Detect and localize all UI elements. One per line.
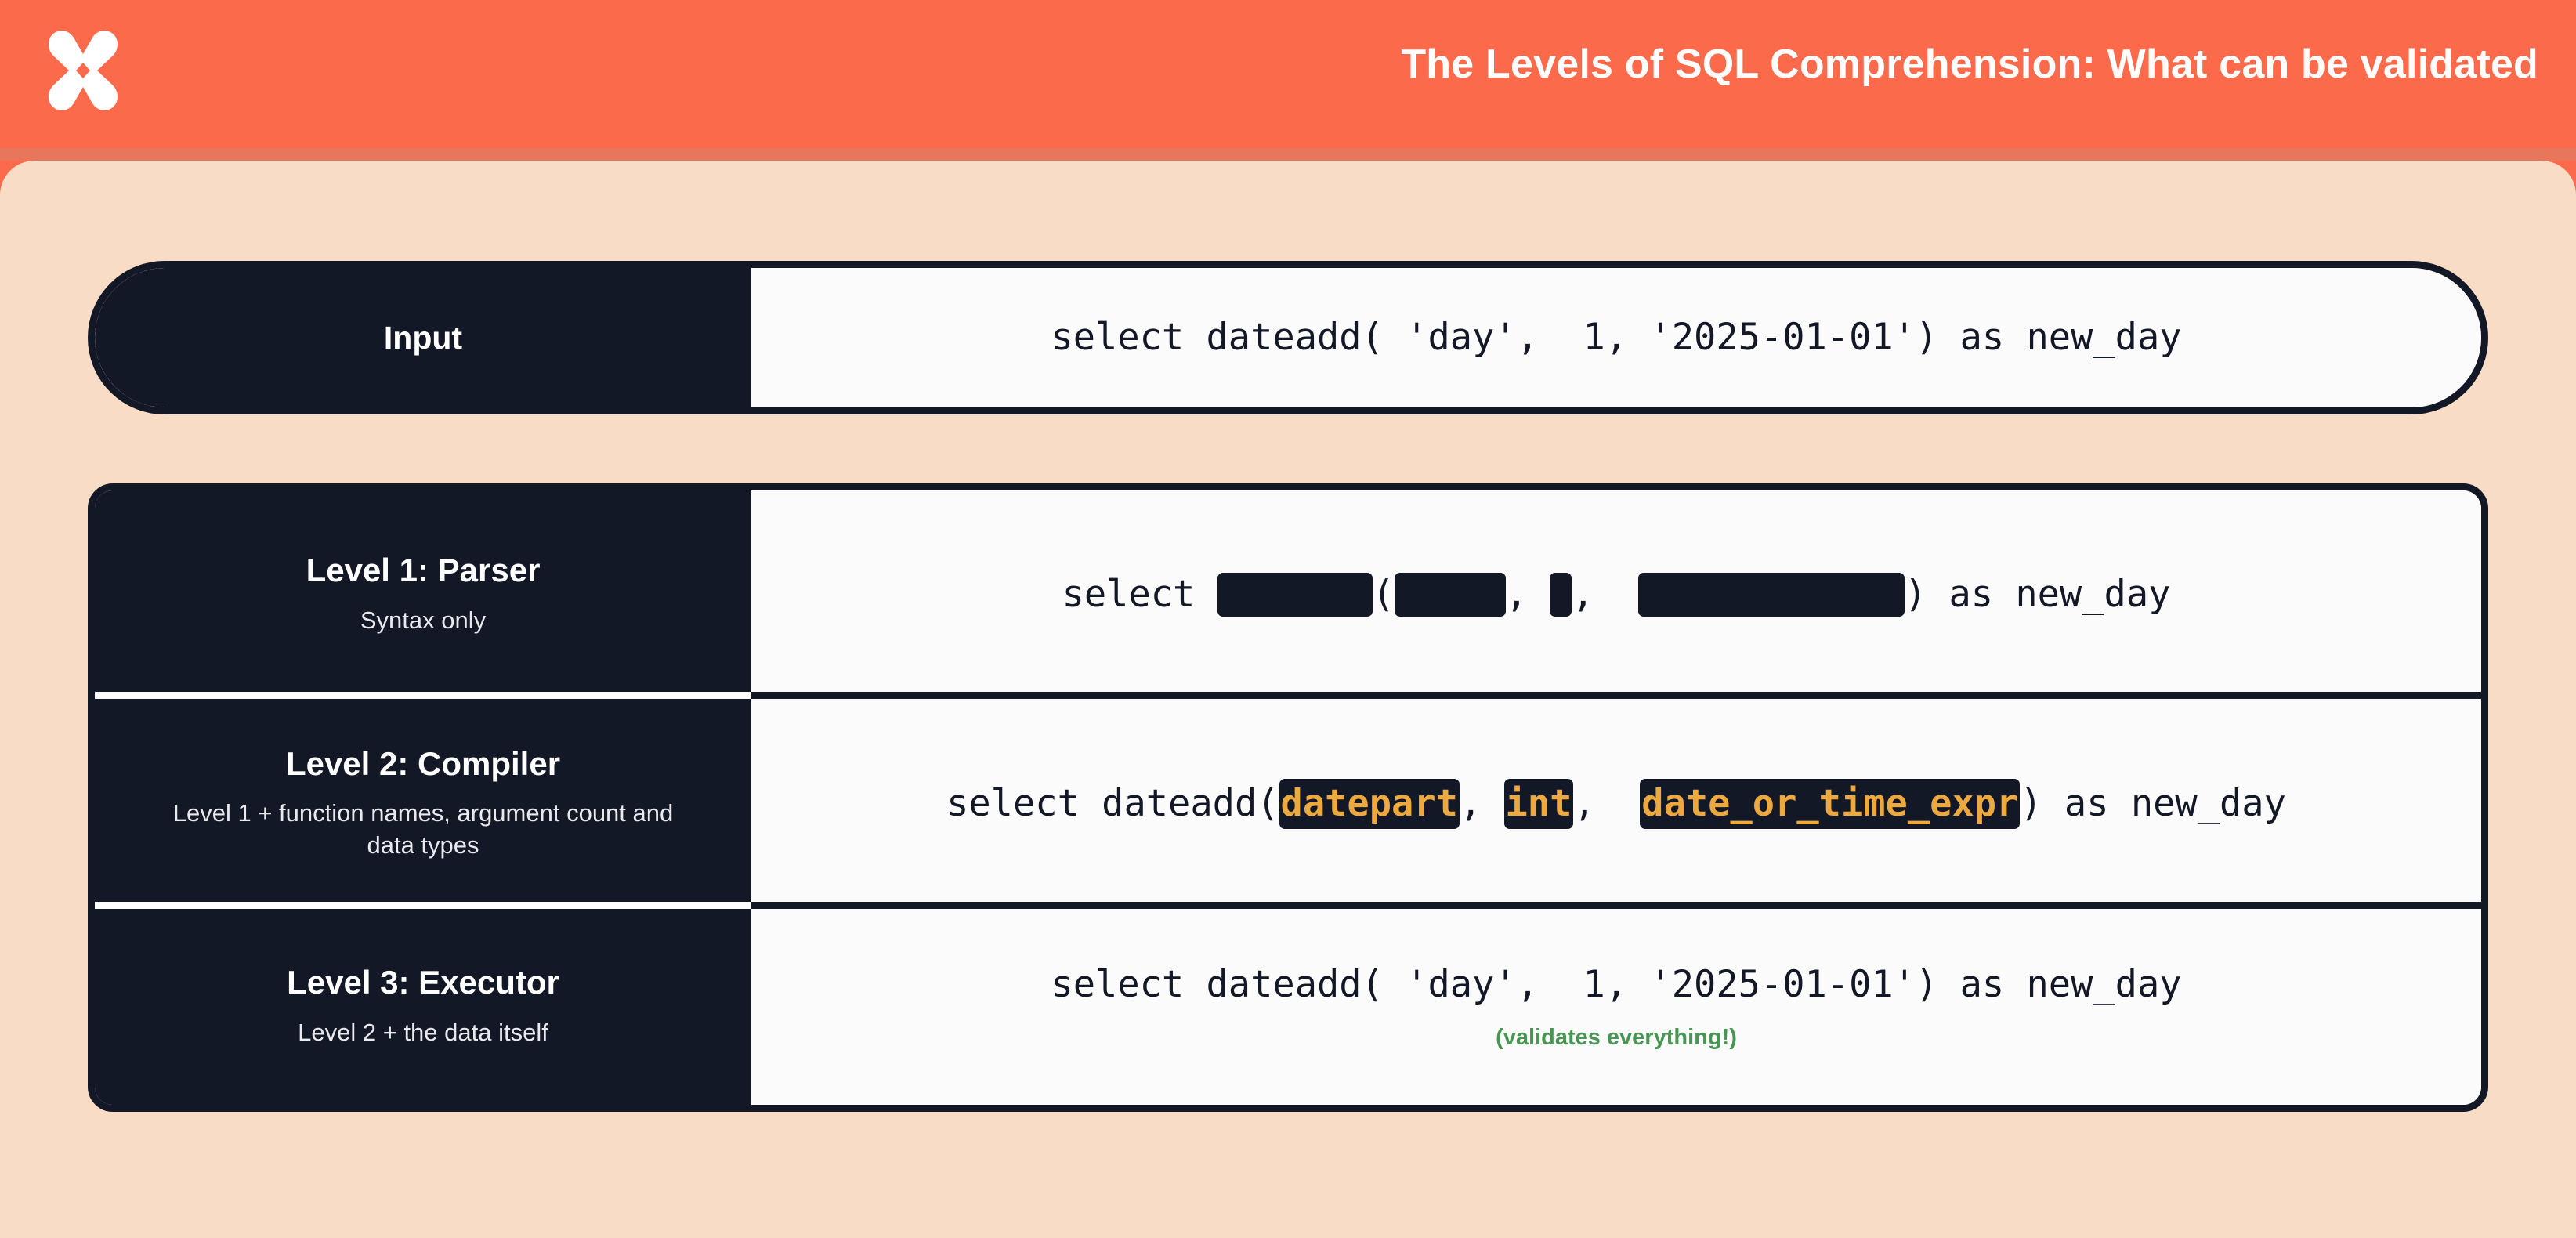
level-1-code-cell: select dateadd('day', 1, '2025-01-01') a… [751,490,2481,699]
x-mark-logo [36,24,130,118]
code-segment: ) as new_day [2020,782,2286,825]
redacted-arg-3: '2025-01-01' [1638,573,1905,617]
type-chip-int: int [1504,779,1574,829]
code-segment: select [1062,573,1217,616]
input-label-cell: Input [95,268,751,407]
type-chip-datepart: datepart [1279,779,1460,829]
header-bar: The Levels of SQL Comprehension: What ca… [0,0,2576,161]
level-3-subtitle: Level 2 + the data itself [298,1017,548,1049]
levels-card: Level 1: Parser Syntax only select datea… [88,483,2488,1112]
level-3-note: (validates everything!) [1496,1025,1737,1051]
code-segment: , [1506,573,1550,616]
level-1-title: Level 1: Parser [306,552,541,588]
code-segment: ) as new_day [1905,573,2171,616]
input-label: Input [384,320,462,357]
row-divider-1 [95,692,2481,699]
row-divider-2 [95,902,2481,909]
level-2-code-cell: select dateadd(datepart, int, date_or_ti… [751,699,2481,909]
input-code-cell: select dateadd( 'day', 1, '2025-01-01') … [751,268,2481,407]
page-title: The Levels of SQL Comprehension: What ca… [1401,41,2538,88]
level-2-title: Level 2: Compiler [286,746,560,782]
input-card: Input select dateadd( 'day', 1, '2025-01… [88,261,2488,414]
code-segment: , [1573,782,1640,825]
level-3-title: Level 3: Executor [287,965,559,1001]
level-2-subtitle: Level 1 + function names, argument count… [149,798,697,862]
level-3-code-cell: select dateadd( 'day', 1, '2025-01-01') … [751,909,2481,1105]
type-chip-date-or-time-expr: date_or_time_expr [1640,779,2020,829]
code-segment: select dateadd( [946,782,1279,825]
code-segment: ( [1373,573,1395,616]
divider-left-segment [95,692,751,699]
divider-right-segment [751,902,2481,909]
level-3-sql-code: select dateadd( 'day', 1, '2025-01-01') … [1051,963,2181,1007]
level-2-label-cell: Level 2: Compiler Level 1 + function nam… [95,699,751,909]
level-1-sql-code: select dateadd('day', 1, '2025-01-01') a… [1062,573,2171,617]
level-1-label-cell: Level 1: Parser Syntax only [95,490,751,699]
input-sql-code: select dateadd( 'day', 1, '2025-01-01') … [1051,316,2181,360]
code-segment: , [1572,573,1638,616]
divider-left-segment [95,902,751,909]
infographic-page: The Levels of SQL Comprehension: What ca… [0,0,2576,1238]
level-row: Level 3: Executor Level 2 + the data its… [95,909,2481,1105]
level-1-subtitle: Syntax only [360,605,486,637]
level-row: Level 1: Parser Syntax only select datea… [95,490,2481,699]
level-2-sql-code: select dateadd(datepart, int, date_or_ti… [946,779,2286,829]
level-row: Level 2: Compiler Level 1 + function nam… [95,699,2481,909]
redacted-arg-2: 1 [1550,573,1572,617]
code-segment: , [1460,782,1504,825]
redacted-arg-1: 'day' [1395,573,1505,617]
redacted-function-name: dateadd [1217,573,1373,617]
header-shadow-strip [0,148,2576,161]
level-3-label-cell: Level 3: Executor Level 2 + the data its… [95,909,751,1105]
divider-right-segment [751,692,2481,699]
